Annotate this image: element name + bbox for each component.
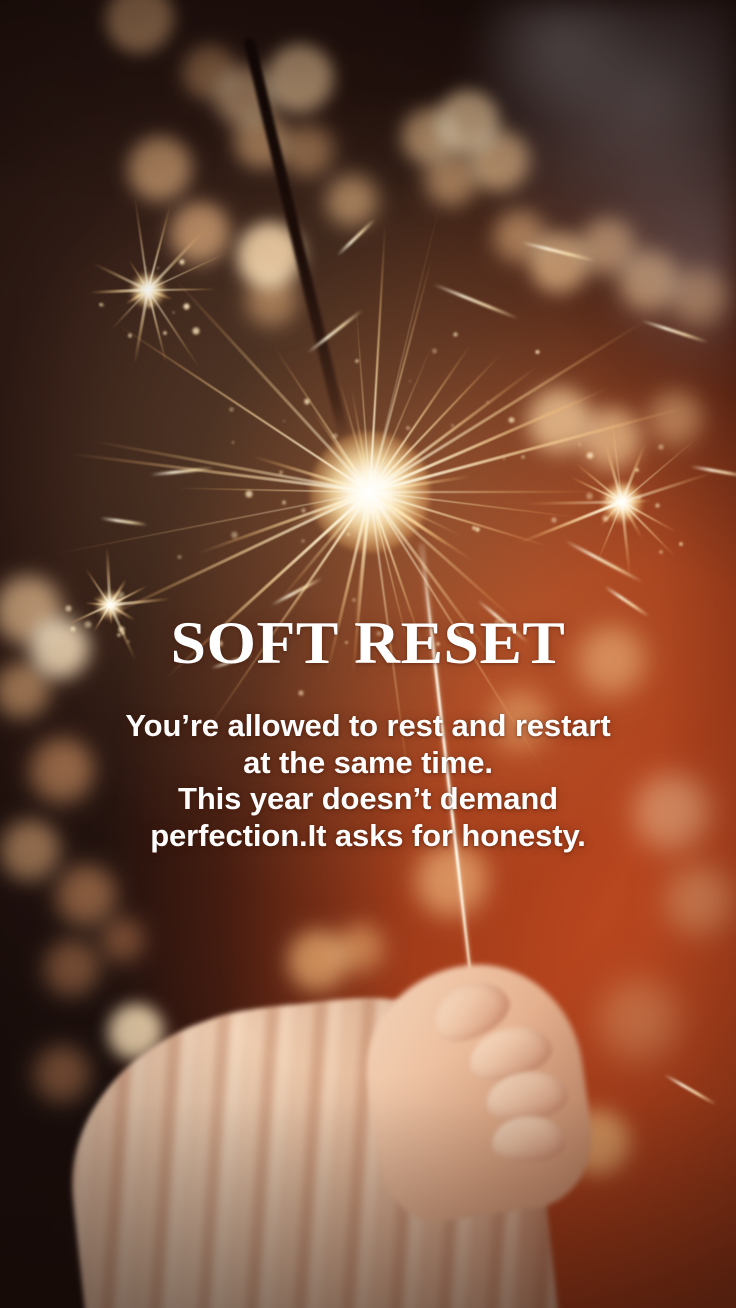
body-text-line-3: This year doesn’t demand xyxy=(0,781,736,818)
body-text-line-2: at the same time. xyxy=(0,745,736,782)
text-overlay: SOFT RESET You’re allowed to rest and re… xyxy=(0,612,736,854)
poster-canvas: SOFT RESET You’re allowed to rest and re… xyxy=(0,0,736,1308)
page-title: SOFT RESET xyxy=(0,612,736,674)
body-text-line-4: perfection.It asks for honesty. xyxy=(0,818,736,855)
body-text: You’re allowed to rest and restartat the… xyxy=(0,674,736,854)
body-text-line-1: You’re allowed to rest and restart xyxy=(0,708,736,745)
